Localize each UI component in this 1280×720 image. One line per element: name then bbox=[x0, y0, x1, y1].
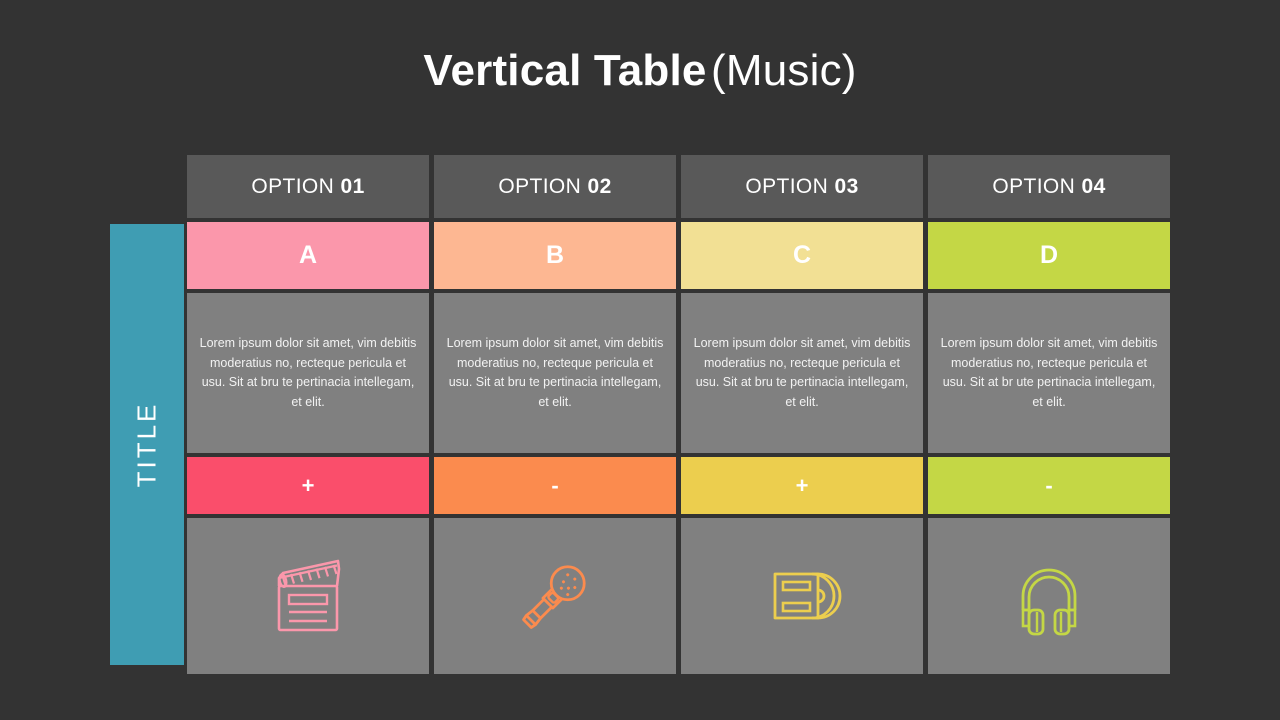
column-header-03[interactable]: OPTION 03 bbox=[681, 155, 923, 218]
column-letter-label: C bbox=[793, 241, 811, 270]
page-title-bold: Vertical Table bbox=[423, 46, 706, 95]
column-body-text: Lorem ipsum dolor sit amet, vim debitis … bbox=[693, 334, 911, 412]
column-body-text: Lorem ipsum dolor sit amet, vim debitis … bbox=[446, 334, 664, 412]
column-sign-01[interactable]: + bbox=[187, 457, 429, 514]
column-sign-03[interactable]: + bbox=[681, 457, 923, 514]
table-column-03: OPTION 03 C Lorem ipsum dolor sit amet, … bbox=[681, 155, 923, 674]
column-letter-01[interactable]: A bbox=[187, 222, 429, 289]
column-letter-label: D bbox=[1040, 241, 1058, 270]
column-header-prefix: OPTION bbox=[498, 175, 581, 199]
microphone-icon bbox=[507, 548, 603, 644]
column-header-number: 02 bbox=[587, 175, 611, 199]
column-sign-02[interactable]: - bbox=[434, 457, 676, 514]
headphones-icon bbox=[1001, 548, 1097, 644]
column-letter-03[interactable]: C bbox=[681, 222, 923, 289]
page-title-regular: (Music) bbox=[711, 46, 857, 95]
column-icon-cell-04 bbox=[928, 518, 1170, 674]
column-sign-label: + bbox=[796, 475, 809, 497]
vertical-table: TITLE OPTION 01 A Lorem ipsum dolor sit … bbox=[110, 155, 1170, 665]
column-body-text: Lorem ipsum dolor sit amet, vim debitis … bbox=[199, 334, 417, 412]
column-header-number: 01 bbox=[340, 175, 364, 199]
column-body-04: Lorem ipsum dolor sit amet, vim debitis … bbox=[928, 293, 1170, 453]
column-header-prefix: OPTION bbox=[992, 175, 1075, 199]
column-letter-02[interactable]: B bbox=[434, 222, 676, 289]
table-column-02: OPTION 02 B Lorem ipsum dolor sit amet, … bbox=[434, 155, 676, 674]
column-header-number: 03 bbox=[834, 175, 858, 199]
slide-root: Vertical Table (Music) TITLE OPTION 01 A… bbox=[0, 0, 1280, 720]
column-sign-label: + bbox=[302, 475, 315, 497]
table-columns: OPTION 01 A Lorem ipsum dolor sit amet, … bbox=[187, 155, 1170, 665]
column-letter-label: B bbox=[546, 241, 564, 270]
column-body-text: Lorem ipsum dolor sit amet, vim debitis … bbox=[940, 334, 1158, 412]
column-icon-cell-03 bbox=[681, 518, 923, 674]
page-title: Vertical Table (Music) bbox=[0, 46, 1280, 96]
cd-sleeve-icon bbox=[754, 548, 850, 644]
column-icon-cell-01 bbox=[187, 518, 429, 674]
table-column-01: OPTION 01 A Lorem ipsum dolor sit amet, … bbox=[187, 155, 429, 674]
column-sign-label: - bbox=[551, 475, 558, 497]
column-header-prefix: OPTION bbox=[745, 175, 828, 199]
column-sign-04[interactable]: - bbox=[928, 457, 1170, 514]
column-body-02: Lorem ipsum dolor sit amet, vim debitis … bbox=[434, 293, 676, 453]
side-title-label: TITLE bbox=[132, 402, 163, 488]
column-letter-04[interactable]: D bbox=[928, 222, 1170, 289]
column-body-03: Lorem ipsum dolor sit amet, vim debitis … bbox=[681, 293, 923, 453]
column-body-01: Lorem ipsum dolor sit amet, vim debitis … bbox=[187, 293, 429, 453]
clapperboard-icon bbox=[260, 548, 356, 644]
table-column-04: OPTION 04 D Lorem ipsum dolor sit amet, … bbox=[928, 155, 1170, 674]
column-header-prefix: OPTION bbox=[251, 175, 334, 199]
column-icon-cell-02 bbox=[434, 518, 676, 674]
column-header-04[interactable]: OPTION 04 bbox=[928, 155, 1170, 218]
column-header-number: 04 bbox=[1081, 175, 1105, 199]
column-header-02[interactable]: OPTION 02 bbox=[434, 155, 676, 218]
side-title-bar: TITLE bbox=[110, 224, 184, 665]
column-sign-label: - bbox=[1045, 475, 1052, 497]
column-letter-label: A bbox=[299, 241, 317, 270]
column-header-01[interactable]: OPTION 01 bbox=[187, 155, 429, 218]
